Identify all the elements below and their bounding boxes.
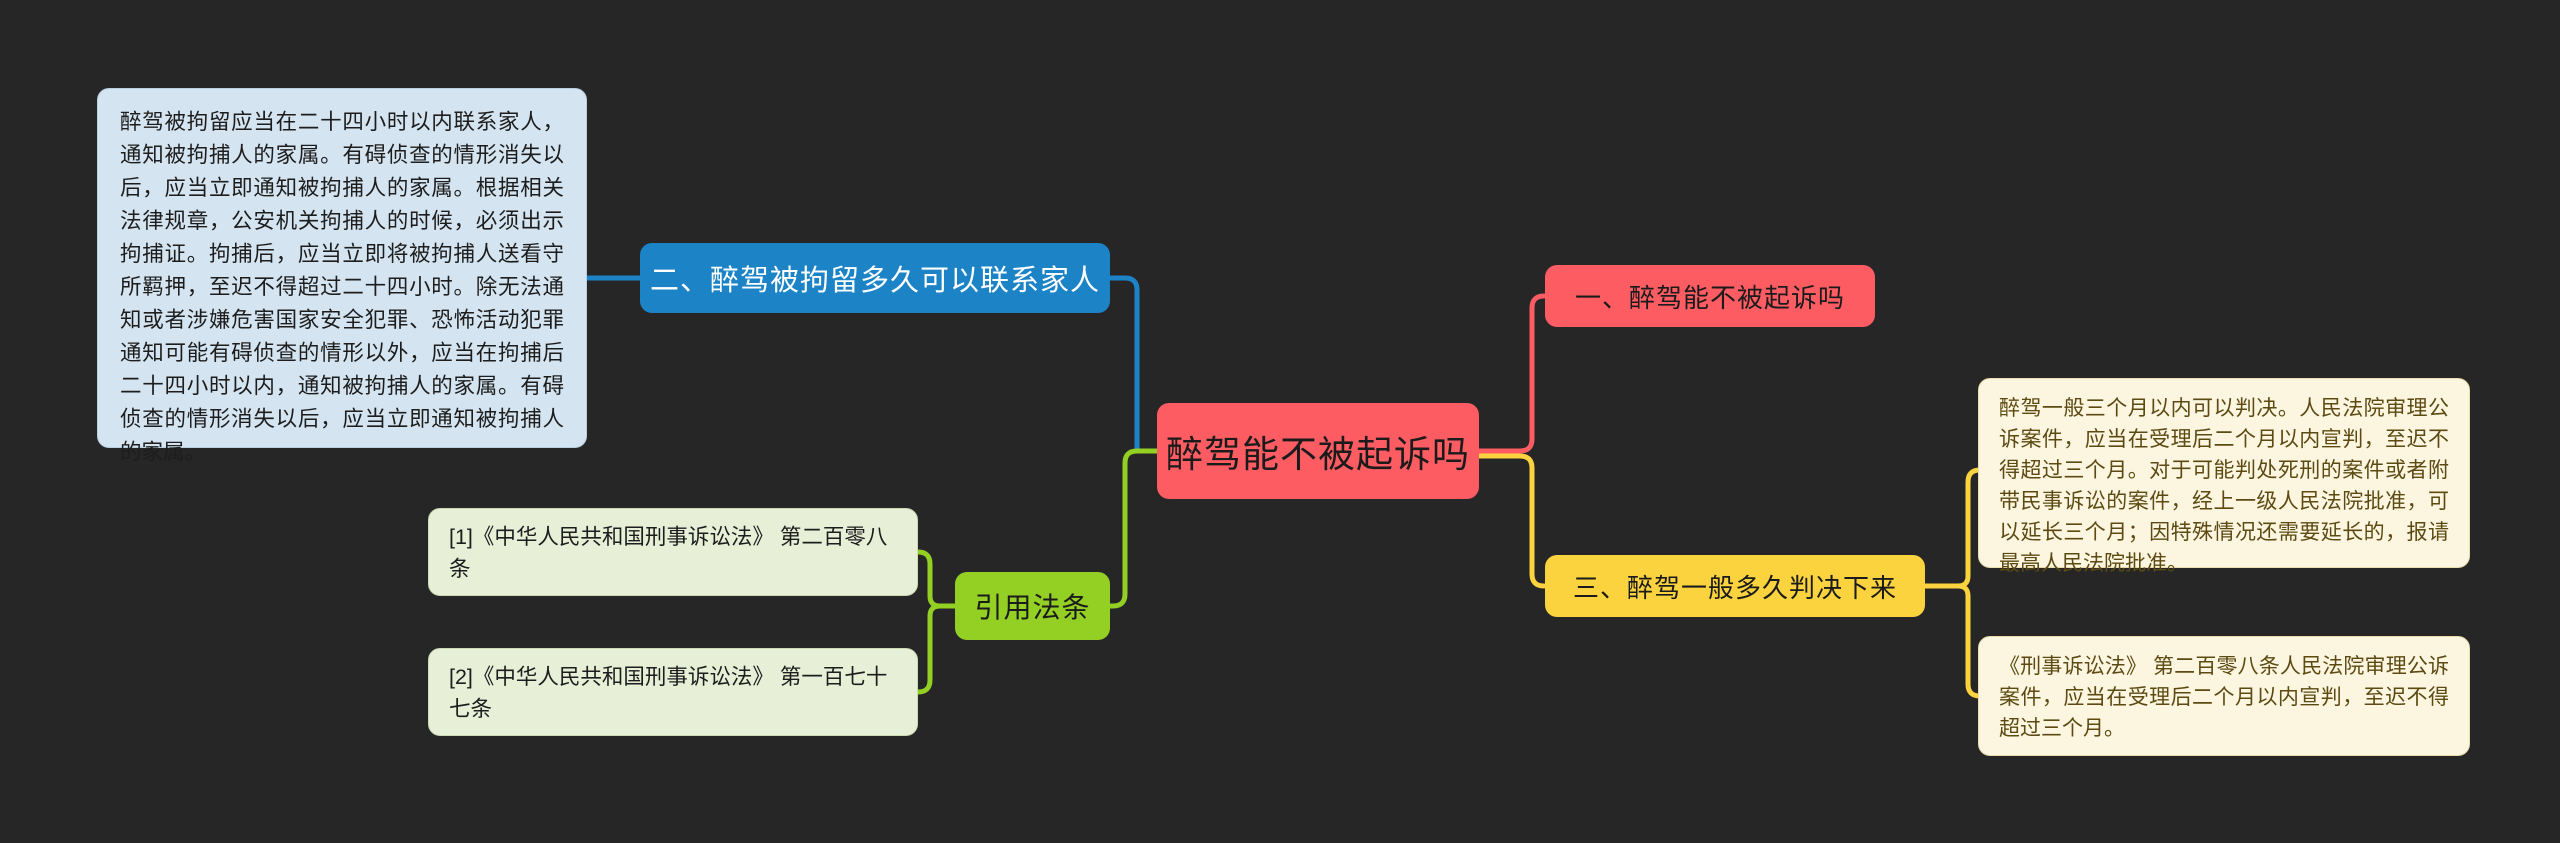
leaf-blue-detail[interactable]: 醉驾被拘留应当在二十四小时以内联系家人，通知被拘捕人的家属。有碍侦查的情形消失以…	[97, 88, 587, 448]
branch-node-red[interactable]: 一、醉驾能不被起诉吗	[1545, 265, 1875, 327]
branch-node-yellow[interactable]: 三、醉驾一般多久判决下来	[1545, 555, 1925, 617]
leaf-yellow-detail-1[interactable]: 醉驾一般三个月以内可以判决。人民法院审理公诉案件，应当在受理后二个月以内宣判，至…	[1978, 378, 2470, 568]
connector-root-red	[1479, 296, 1544, 451]
leaf-citation-2[interactable]: [2]《中华人民共和国刑事诉讼法》 第一百七十七条	[428, 648, 918, 736]
connector-root-yellow	[1479, 456, 1544, 586]
connector-green-citation2	[918, 606, 955, 692]
connector-green-citation1	[918, 552, 955, 606]
connector-yellow-detail1	[1925, 470, 1980, 586]
mindmap-canvas: 醉驾被拘留应当在二十四小时以内联系家人，通知被拘捕人的家属。有碍侦查的情形消失以…	[0, 0, 2560, 843]
branch-node-blue[interactable]: 二、醉驾被拘留多久可以联系家人	[640, 243, 1110, 313]
leaf-citation-1[interactable]: [1]《中华人民共和国刑事诉讼法》 第二百零八条	[428, 508, 918, 596]
connector-root-blue	[1110, 278, 1137, 451]
branch-node-green[interactable]: 引用法条	[955, 572, 1110, 640]
leaf-yellow-detail-2[interactable]: 《刑事诉讼法》 第二百零八条人民法院审理公诉案件，应当在受理后二个月以内宣判，至…	[1978, 636, 2470, 756]
root-node[interactable]: 醉驾能不被起诉吗	[1157, 403, 1479, 499]
connector-yellow-detail2	[1925, 586, 1980, 696]
connector-root-green	[1110, 451, 1157, 606]
